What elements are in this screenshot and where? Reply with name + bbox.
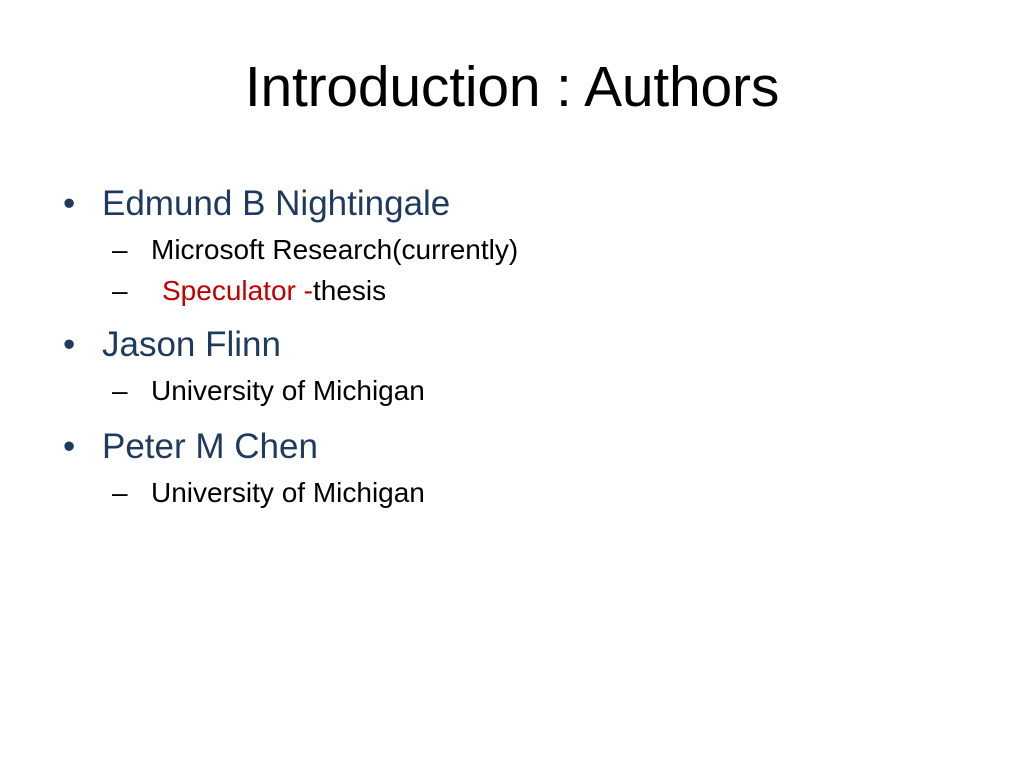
- en-dash-icon: –: [112, 277, 128, 305]
- author-name: Peter M Chen: [102, 427, 318, 466]
- author-name: Jason Flinn: [102, 325, 281, 364]
- list-item: – Speculator -thesis: [56, 277, 968, 305]
- author-name: Edmund B Nightingale: [102, 184, 450, 223]
- affiliation-text: University of Michigan: [151, 375, 425, 406]
- slide-canvas: Introduction : Authors • Edmund B Nighti…: [0, 0, 1024, 768]
- list-item: – University of Michigan: [56, 479, 968, 507]
- list-item: • Peter M Chen: [56, 429, 968, 464]
- outline-body: • Edmund B Nightingale – Microsoft Resea…: [56, 186, 968, 520]
- list-item: • Jason Flinn: [56, 327, 968, 362]
- bullet-dot-icon: •: [63, 327, 75, 362]
- page-title: Introduction : Authors: [0, 56, 1024, 120]
- thesis-highlight: Speculator -: [162, 275, 313, 306]
- affiliation-text: Microsoft Research(currently): [151, 234, 518, 265]
- bullet-dot-icon: •: [63, 429, 75, 464]
- en-dash-icon: –: [112, 377, 128, 405]
- affiliation-text: University of Michigan: [151, 477, 425, 508]
- bullet-dot-icon: •: [63, 186, 75, 221]
- list-item: – Microsoft Research(currently): [56, 236, 968, 264]
- en-dash-icon: –: [112, 479, 128, 507]
- list-item: – University of Michigan: [56, 377, 968, 405]
- en-dash-icon: –: [112, 236, 128, 264]
- thesis-text: thesis: [313, 275, 386, 306]
- list-item: • Edmund B Nightingale: [56, 186, 968, 221]
